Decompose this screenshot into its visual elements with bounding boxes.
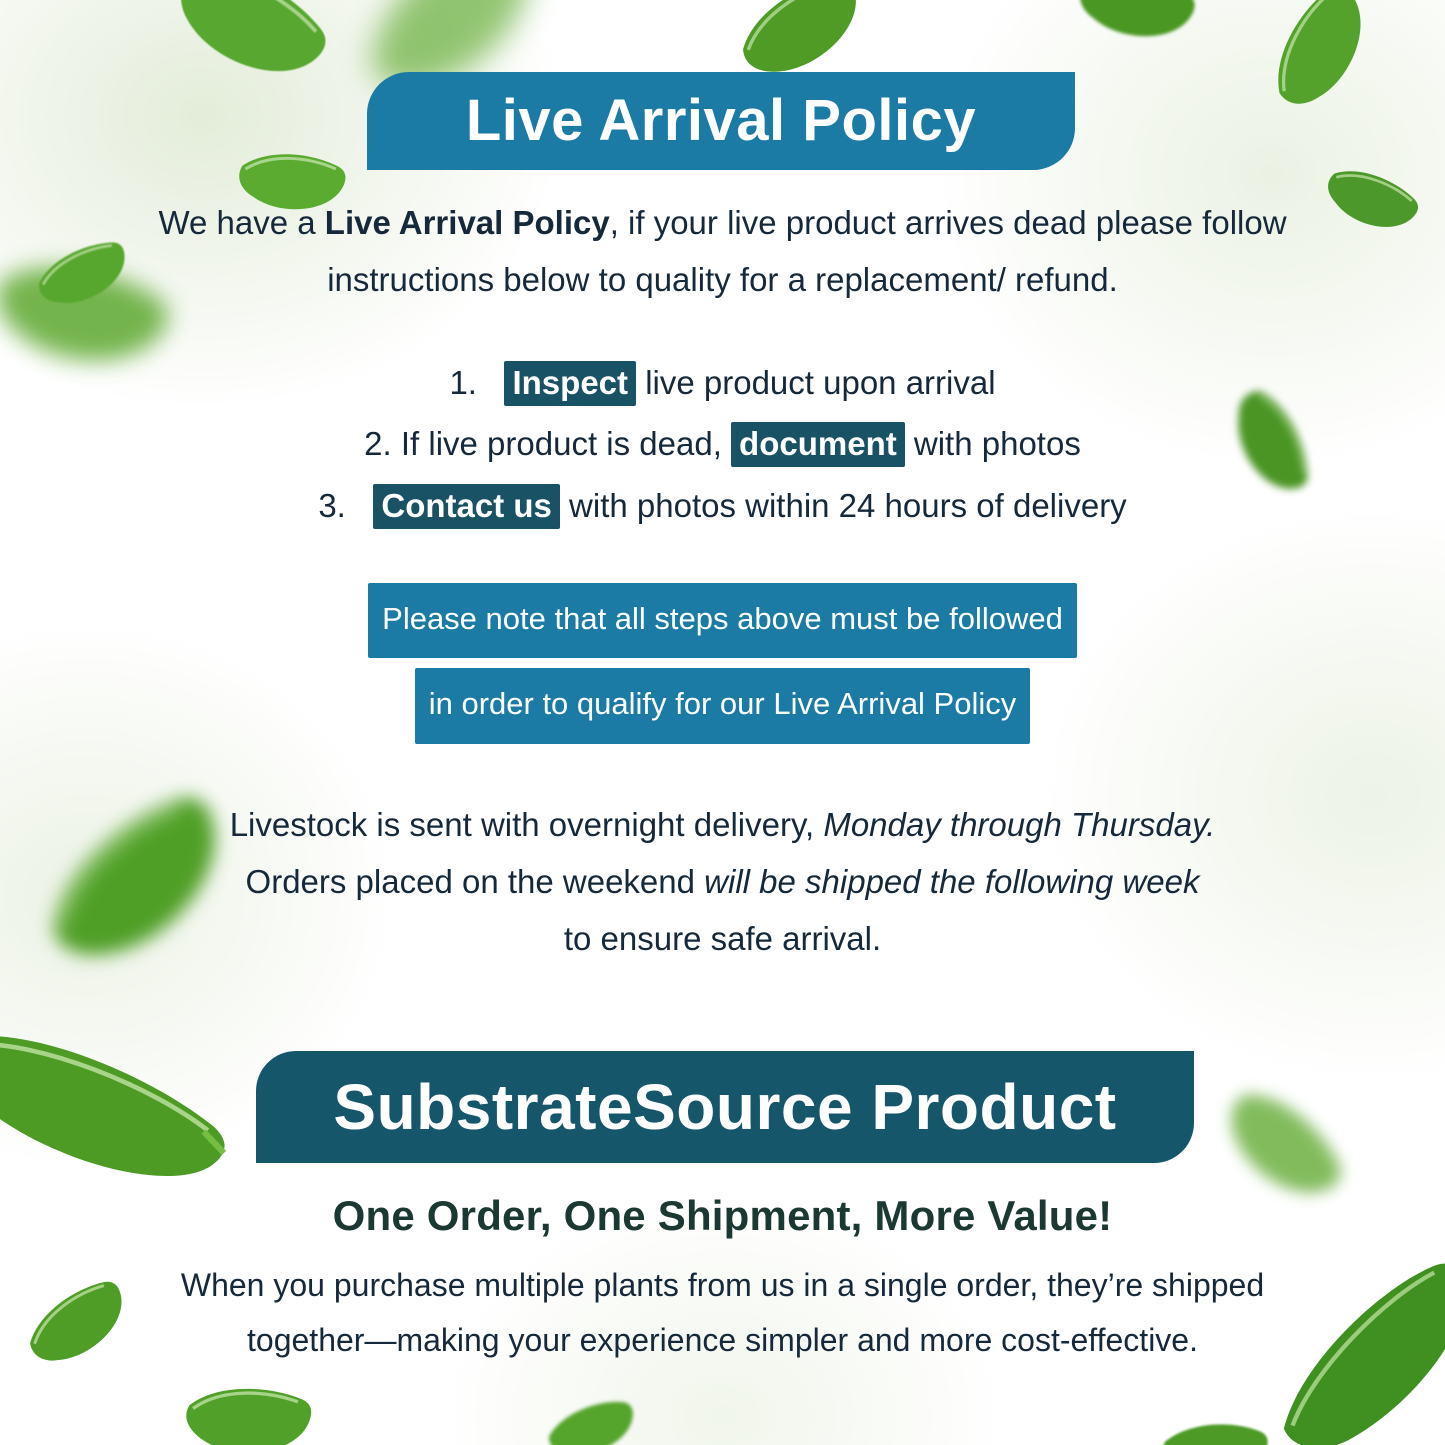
intro-paragraph: We have a Live Arrival Policy, if your l…: [0, 195, 1445, 309]
intro-prefix: We have a: [158, 204, 324, 241]
shipping-line-2-italic: will be shipped the following week: [704, 863, 1199, 900]
page-content: Live Arrival Policy We have a Live Arriv…: [0, 0, 1445, 1445]
step-keyword-contact-us: Contact us: [373, 484, 560, 529]
shipping-line-2-plain: Orders placed on the weekend: [246, 863, 705, 900]
list-item: 2. If live product is dead, document wit…: [0, 413, 1445, 474]
shipping-line-1-plain: Livestock is sent with overnight deliver…: [230, 806, 824, 843]
step-keyword-document: document: [731, 422, 905, 467]
shipping-line-3: to ensure safe arrival.: [0, 911, 1445, 968]
note-row-2: in order to qualify for our Live Arrival…: [0, 668, 1445, 743]
intro-emphasis: Live Arrival Policy: [325, 204, 610, 241]
intro-line-1: We have a Live Arrival Policy, if your l…: [0, 195, 1445, 252]
promo-page: Live Arrival Policy We have a Live Arriv…: [0, 0, 1445, 1445]
live-arrival-policy-banner: Live Arrival Policy: [367, 72, 1075, 170]
value-proposition-heading: One Order, One Shipment, More Value!: [0, 1192, 1445, 1240]
step-text: live product upon arrival: [645, 364, 995, 401]
intro-line-2: instructions below to quality for a repl…: [0, 252, 1445, 309]
policy-note-block: Please note that all steps above must be…: [0, 583, 1445, 754]
shipping-paragraph: Livestock is sent with overnight deliver…: [0, 797, 1445, 967]
step-text-before: If live product is dead,: [401, 425, 722, 462]
step-text: with photos within 24 hours of delivery: [569, 487, 1127, 524]
note-line-2: in order to qualify for our Live Arrival…: [415, 668, 1031, 743]
note-line-1: Please note that all steps above must be…: [368, 583, 1077, 658]
value-line-1: When you purchase multiple plants from u…: [0, 1258, 1445, 1313]
step-text: with photos: [914, 425, 1081, 462]
value-proposition-paragraph: When you purchase multiple plants from u…: [0, 1258, 1445, 1368]
step-number: 1.: [449, 364, 477, 401]
note-row-1: Please note that all steps above must be…: [0, 583, 1445, 658]
policy-steps-list: 1. Inspect live product upon arrival 2. …: [0, 352, 1445, 536]
shipping-line-1-italic: Monday through Thursday.: [823, 806, 1215, 843]
step-number: 3.: [318, 487, 346, 524]
intro-suffix: , if your live product arrives dead plea…: [610, 204, 1287, 241]
shipping-line-2: Orders placed on the weekend will be shi…: [0, 854, 1445, 911]
list-item: 3. Contact us with photos within 24 hour…: [0, 475, 1445, 536]
substratesource-product-banner: SubstrateSource Product: [256, 1051, 1194, 1163]
shipping-line-1: Livestock is sent with overnight deliver…: [0, 797, 1445, 854]
value-line-2: together—making your experience simpler …: [0, 1313, 1445, 1368]
step-number: 2.: [364, 425, 392, 462]
list-item: 1. Inspect live product upon arrival: [0, 352, 1445, 413]
step-keyword-inspect: Inspect: [504, 361, 636, 406]
